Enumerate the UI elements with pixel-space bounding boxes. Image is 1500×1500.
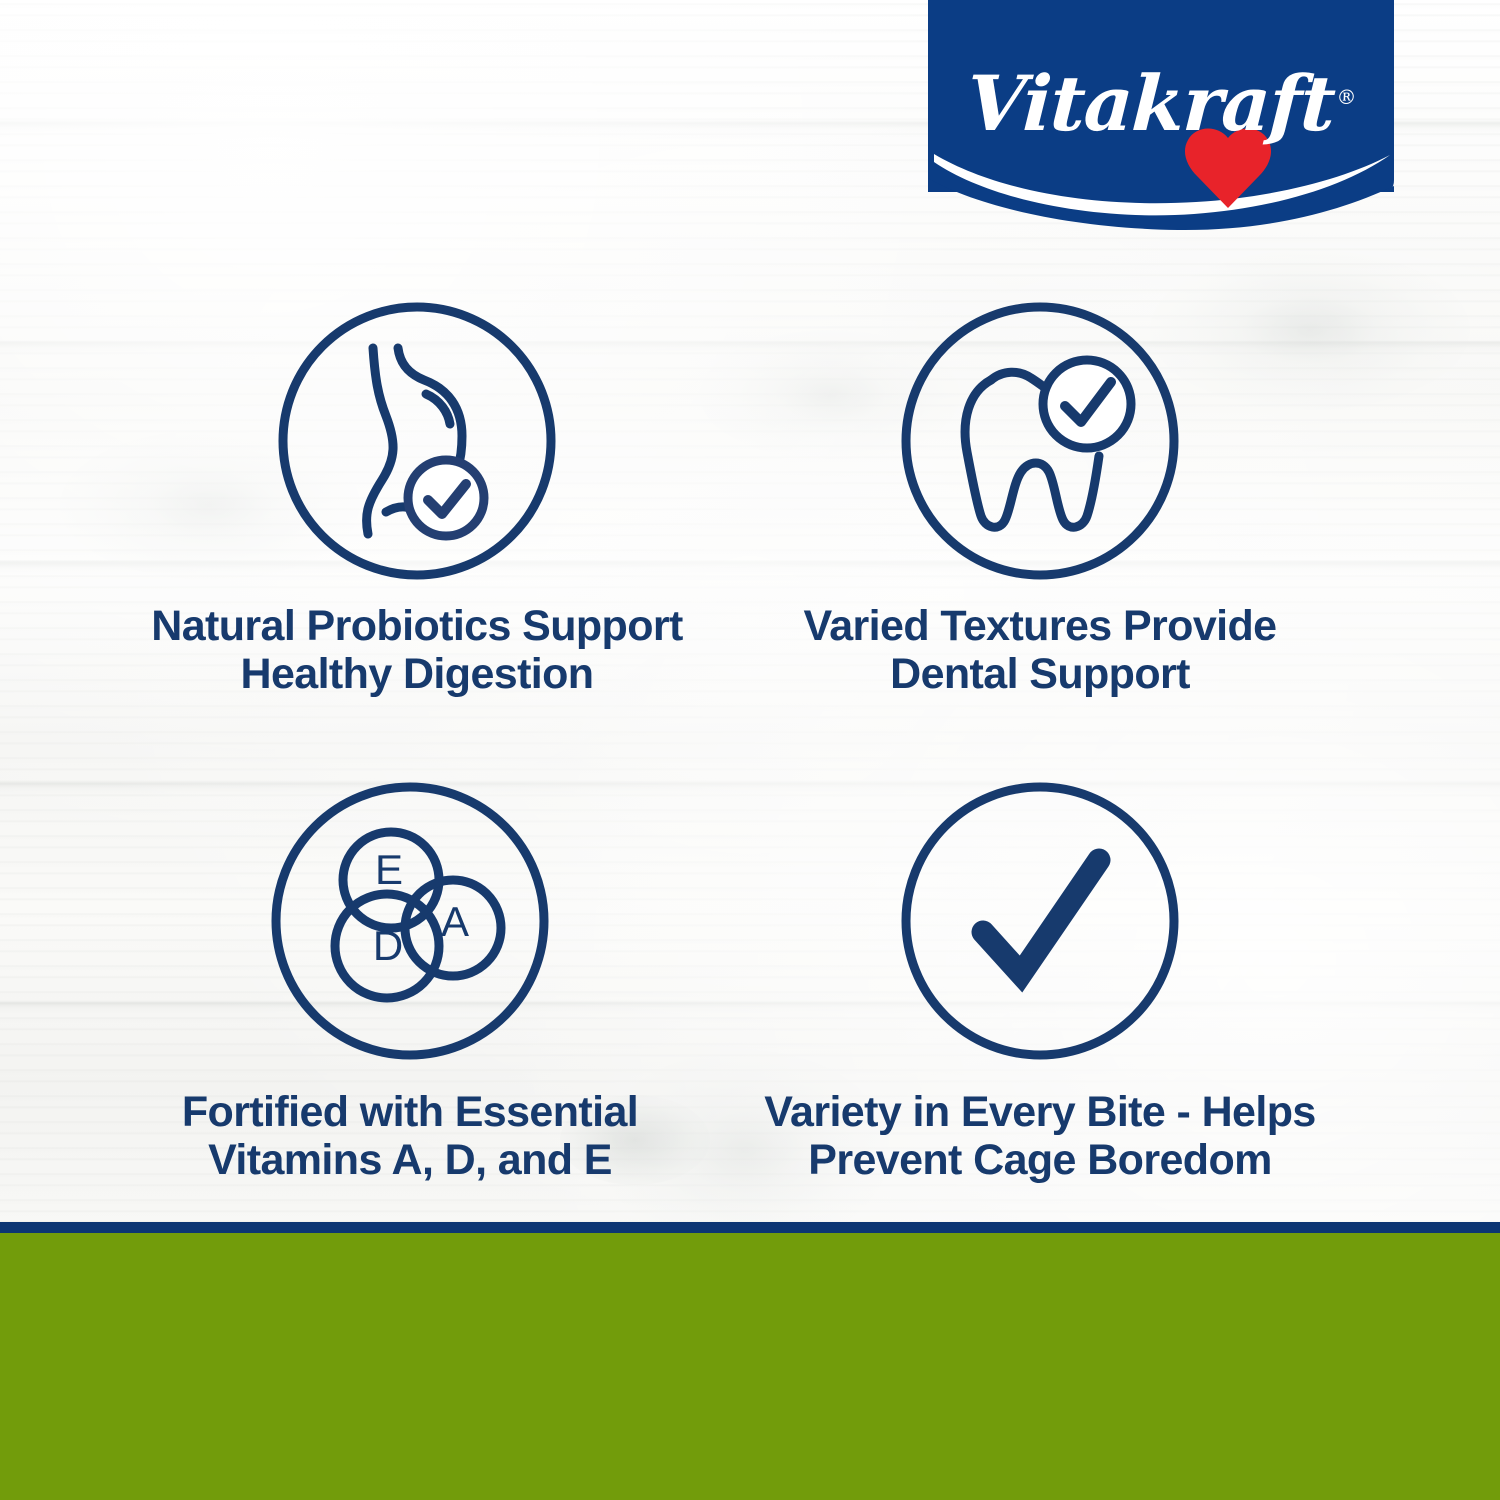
checkmark-circle-icon (899, 780, 1181, 1062)
product-feature-panel: Vitakraft® (0, 0, 1500, 1500)
vitamin-label-d: D (373, 922, 403, 969)
stomach-digestion-check-icon (276, 300, 558, 582)
feature-caption: Fortified with Essential Vitamins A, D, … (182, 1088, 638, 1184)
blue-divider-stripe (0, 1222, 1500, 1233)
feature-caption: Variety in Every Bite - Helps Prevent Ca… (764, 1088, 1315, 1184)
tooth-check-icon (899, 300, 1181, 582)
feature-item-variety: Variety in Every Bite - Helps Prevent Ca… (690, 780, 1390, 1184)
feature-caption: Natural Probiotics Support Healthy Diges… (151, 602, 683, 698)
green-footer-band (0, 1233, 1500, 1500)
feature-caption: Varied Textures Provide Dental Support (804, 602, 1277, 698)
vitamin-bubbles-eda-icon: E A D (269, 780, 551, 1062)
vitakraft-logo: Vitakraft® (928, 0, 1394, 242)
vitamin-label-e: E (375, 846, 403, 893)
feature-grid: Natural Probiotics Support Healthy Diges… (0, 300, 1500, 1220)
feature-item-vitamins: E A D Fortified with Essential Vitamins … (60, 780, 760, 1184)
feature-item-dental: Varied Textures Provide Dental Support (690, 300, 1390, 698)
vitamin-label-a: A (441, 898, 469, 945)
feature-item-digestion: Natural Probiotics Support Healthy Diges… (67, 300, 767, 698)
